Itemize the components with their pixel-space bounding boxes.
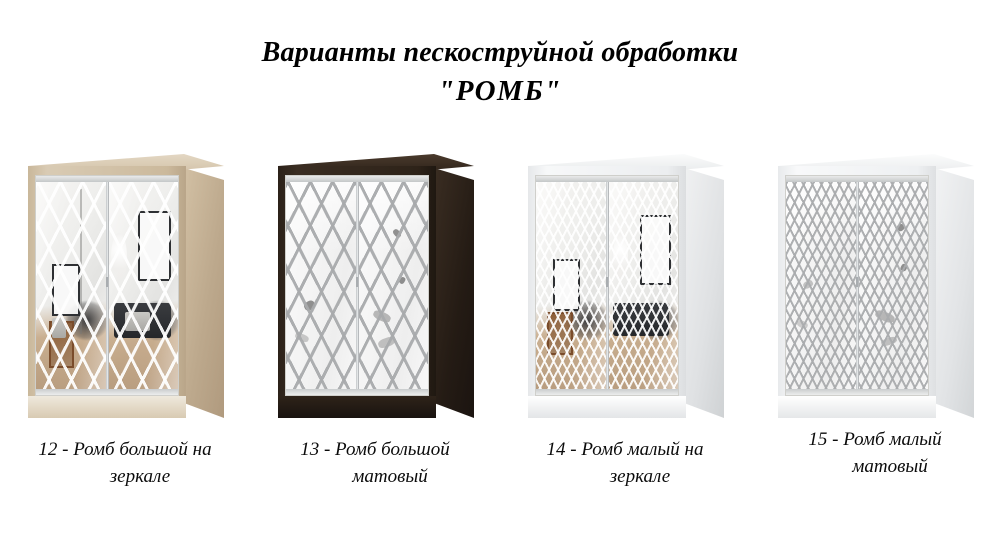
wardrobe-plinth xyxy=(528,396,686,418)
wardrobe-side-panel-fill xyxy=(184,168,224,418)
reflected-cushion xyxy=(52,318,66,338)
wardrobe-plinth xyxy=(278,396,436,418)
mirror-reflection xyxy=(107,176,178,395)
title-line-2: "РОМБ" xyxy=(0,72,1000,110)
wardrobe-photo-romb-malyy-na-zerkale xyxy=(500,148,750,426)
door-left[interactable] xyxy=(536,176,607,395)
wardrobe-side-panel xyxy=(934,168,974,418)
wardrobe-side-panel xyxy=(434,168,474,418)
door-handle-left[interactable] xyxy=(106,277,108,287)
door-rail-top xyxy=(36,176,178,182)
wardrobe-doors[interactable] xyxy=(35,175,179,396)
reflected-lamp xyxy=(111,233,127,281)
door-rail-bottom xyxy=(286,389,428,395)
caption-item-12: 12 - Ромб большой на зеркале xyxy=(6,436,244,490)
door-left[interactable] xyxy=(36,176,107,395)
caption-line-1: 15 - Ромб малый xyxy=(756,426,994,453)
wardrobe-gallery: 12 - Ромб большой на зеркале xyxy=(0,148,1000,508)
caption-line-1: 12 - Ромб большой на xyxy=(6,436,244,463)
reflected-lamp xyxy=(613,233,629,281)
door-handle-left[interactable] xyxy=(856,277,858,287)
reflected-picture-frame xyxy=(52,264,80,316)
door-right[interactable] xyxy=(857,176,928,395)
matte-door-face xyxy=(857,176,928,395)
reflected-wall-edge xyxy=(80,189,82,334)
caption-line-1: 13 - Ромб большой xyxy=(256,436,494,463)
reflected-sofa xyxy=(613,303,670,336)
caption-line-2: зеркале xyxy=(506,463,744,490)
caption-line-2: матовый xyxy=(756,453,994,480)
wardrobe-doors[interactable] xyxy=(535,175,679,396)
door-handle-left[interactable] xyxy=(356,277,358,287)
wardrobe-doors[interactable] xyxy=(285,175,429,396)
door-right[interactable] xyxy=(607,176,678,395)
door-rail-bottom xyxy=(786,389,928,395)
wardrobe-carcass xyxy=(778,166,936,418)
wardrobe-carcass xyxy=(28,166,186,418)
caption-item-15: 15 - Ромб малый матовый xyxy=(756,426,994,480)
door-rail-top xyxy=(536,176,678,182)
wardrobe-body xyxy=(278,154,474,426)
wardrobe-plinth xyxy=(778,396,936,418)
gallery-item-12[interactable]: 12 - Ромб большой на зеркале xyxy=(0,148,250,508)
caption-line-2: зеркале xyxy=(6,463,244,490)
door-rail-bottom xyxy=(536,389,678,395)
wardrobe-carcass xyxy=(278,166,436,418)
matte-door-face xyxy=(786,176,857,395)
wardrobe-plinth xyxy=(28,396,186,418)
door-right[interactable] xyxy=(357,176,428,395)
matte-door-face xyxy=(357,176,428,395)
door-rail-top xyxy=(286,176,428,182)
wardrobe-doors[interactable] xyxy=(785,175,929,396)
wardrobe-photo-romb-bolshoy-na-zerkale xyxy=(0,148,250,426)
wardrobe-body xyxy=(528,154,724,426)
reflected-picture-frame xyxy=(138,211,170,281)
door-rail-bottom xyxy=(36,389,178,395)
wardrobe-photo-romb-malyy-matovyy xyxy=(750,148,1000,426)
caption-line-2: матовый xyxy=(256,463,494,490)
wardrobe-carcass xyxy=(528,166,686,418)
door-right[interactable] xyxy=(107,176,178,395)
reflected-chair xyxy=(547,312,572,355)
gallery-item-14[interactable]: 14 - Ромб малый на зеркале xyxy=(500,148,750,508)
wardrobe-photo-romb-bolshoy-matovyy xyxy=(250,148,500,426)
reflected-picture-frame xyxy=(553,259,580,311)
door-left[interactable] xyxy=(286,176,357,395)
caption-line-1: 14 - Ромб малый на xyxy=(506,436,744,463)
reflected-cushion xyxy=(125,312,149,332)
gallery-item-15[interactable]: 15 - Ромб малый матовый xyxy=(750,148,1000,508)
door-rail-top xyxy=(786,176,928,182)
wardrobe-body xyxy=(778,154,974,426)
wardrobe-side-panel xyxy=(684,168,724,418)
page-title: Варианты пескоструйной обработки "РОМБ" xyxy=(0,34,1000,110)
caption-item-13: 13 - Ромб большой матовый xyxy=(256,436,494,490)
caption-item-14: 14 - Ромб малый на зеркале xyxy=(506,436,744,490)
title-line-1: Варианты пескоструйной обработки xyxy=(0,34,1000,72)
door-left[interactable] xyxy=(786,176,857,395)
matte-door-face xyxy=(286,176,357,395)
mirror-reflection xyxy=(607,176,678,395)
reflected-picture-frame xyxy=(640,215,671,285)
gallery-item-13[interactable]: 13 - Ромб большой матовый xyxy=(250,148,500,508)
door-handle-left[interactable] xyxy=(606,277,608,287)
wardrobe-body xyxy=(28,154,224,426)
